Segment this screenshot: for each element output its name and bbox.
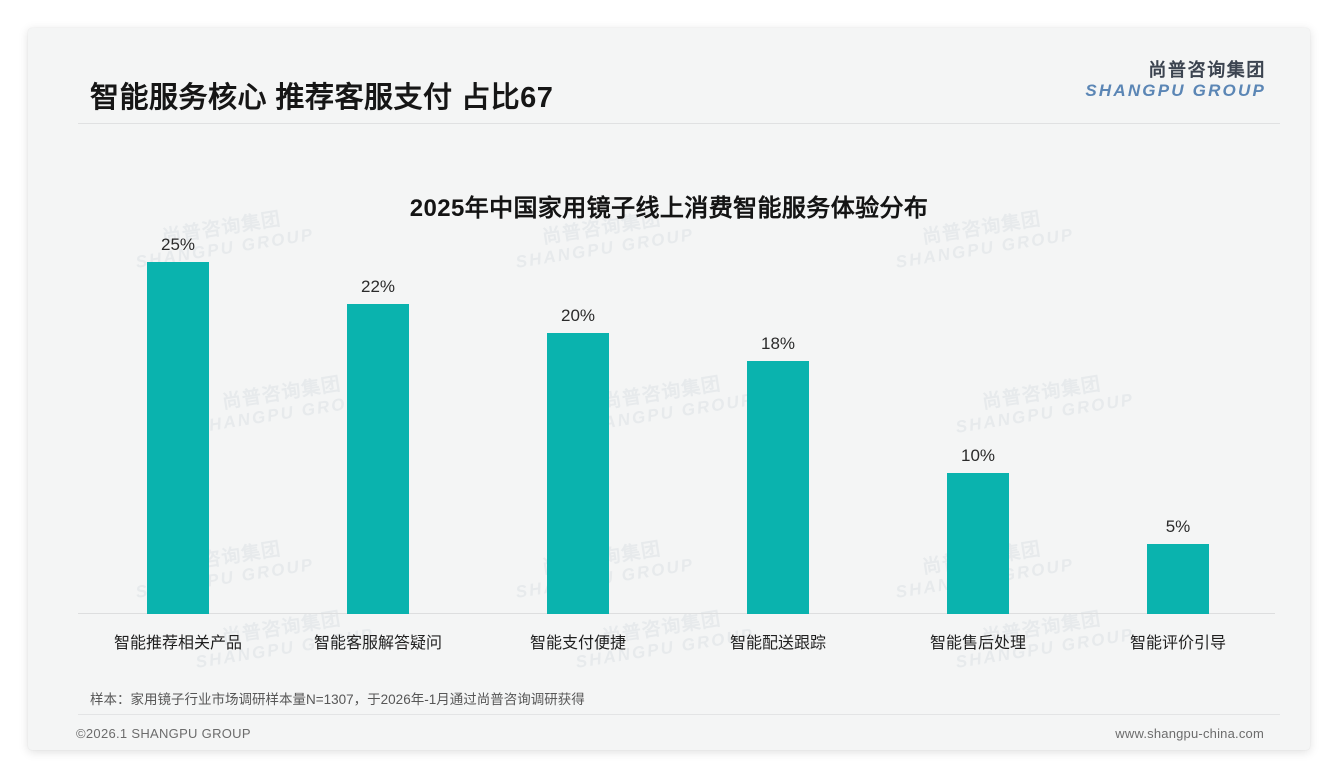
header-divider	[78, 123, 1280, 124]
bar-group: 18%智能配送跟踪	[678, 234, 878, 614]
bar-category-label: 智能评价引导	[1130, 629, 1226, 653]
bar-group: 10%智能售后处理	[878, 234, 1078, 614]
bar-value-label: 10%	[961, 446, 995, 466]
bar[interactable]: 18%	[747, 361, 809, 614]
chart-area: 2025年中国家用镜子线上消费智能服务体验分布 25%智能推荐相关产品22%智能…	[28, 124, 1310, 684]
brand-logo: 尚普咨询集团 SHANGPU GROUP	[1085, 60, 1266, 101]
bar[interactable]: 10%	[947, 473, 1009, 614]
slide-footer: ©2026.1 SHANGPU GROUP www.shangpu-china.…	[28, 714, 1310, 750]
bar-category-label: 智能售后处理	[930, 629, 1026, 653]
logo-english-text: SHANGPU GROUP	[1085, 81, 1266, 101]
bar-group: 25%智能推荐相关产品	[78, 234, 278, 614]
slide-header: 智能服务核心 推荐客服支付 占比67 尚普咨询集团 SHANGPU GROUP	[28, 28, 1310, 124]
bar-category-label: 智能配送跟踪	[730, 629, 826, 653]
sample-note: 样本：家用镜子行业市场调研样本量N=1307，于2026年-1月通过尚普咨询调研…	[90, 688, 585, 708]
logo-chinese-text: 尚普咨询集团	[1085, 60, 1266, 81]
page-title: 智能服务核心 推荐客服支付 占比67	[90, 74, 553, 116]
bar-value-label: 20%	[561, 306, 595, 326]
bar-value-label: 18%	[761, 334, 795, 354]
bar-value-label: 25%	[161, 235, 195, 255]
bar[interactable]: 22%	[347, 304, 409, 614]
bar-category-label: 智能推荐相关产品	[114, 629, 242, 653]
bar-value-label: 22%	[361, 277, 395, 297]
copyright-text: ©2026.1 SHANGPU GROUP	[76, 726, 251, 741]
bar[interactable]: 5%	[1147, 544, 1209, 614]
bar-group: 22%智能客服解答疑问	[278, 234, 478, 614]
bar[interactable]: 25%	[147, 262, 209, 614]
slide-canvas: 尚普咨询集团SHANGPU GROUP尚普咨询集团SHANGPU GROUP尚普…	[28, 28, 1310, 750]
bar[interactable]: 20%	[547, 333, 609, 614]
bar-category-label: 智能支付便捷	[530, 629, 626, 653]
bar-value-label: 5%	[1166, 517, 1191, 537]
chart-title: 2025年中国家用镜子线上消费智能服务体验分布	[28, 188, 1310, 223]
bar-chart-plot: 25%智能推荐相关产品22%智能客服解答疑问20%智能支付便捷18%智能配送跟踪…	[78, 234, 1275, 654]
bar-group: 20%智能支付便捷	[478, 234, 678, 614]
website-link[interactable]: www.shangpu-china.com	[1115, 726, 1264, 741]
bar-group: 5%智能评价引导	[1078, 234, 1278, 614]
bar-category-label: 智能客服解答疑问	[314, 629, 442, 653]
